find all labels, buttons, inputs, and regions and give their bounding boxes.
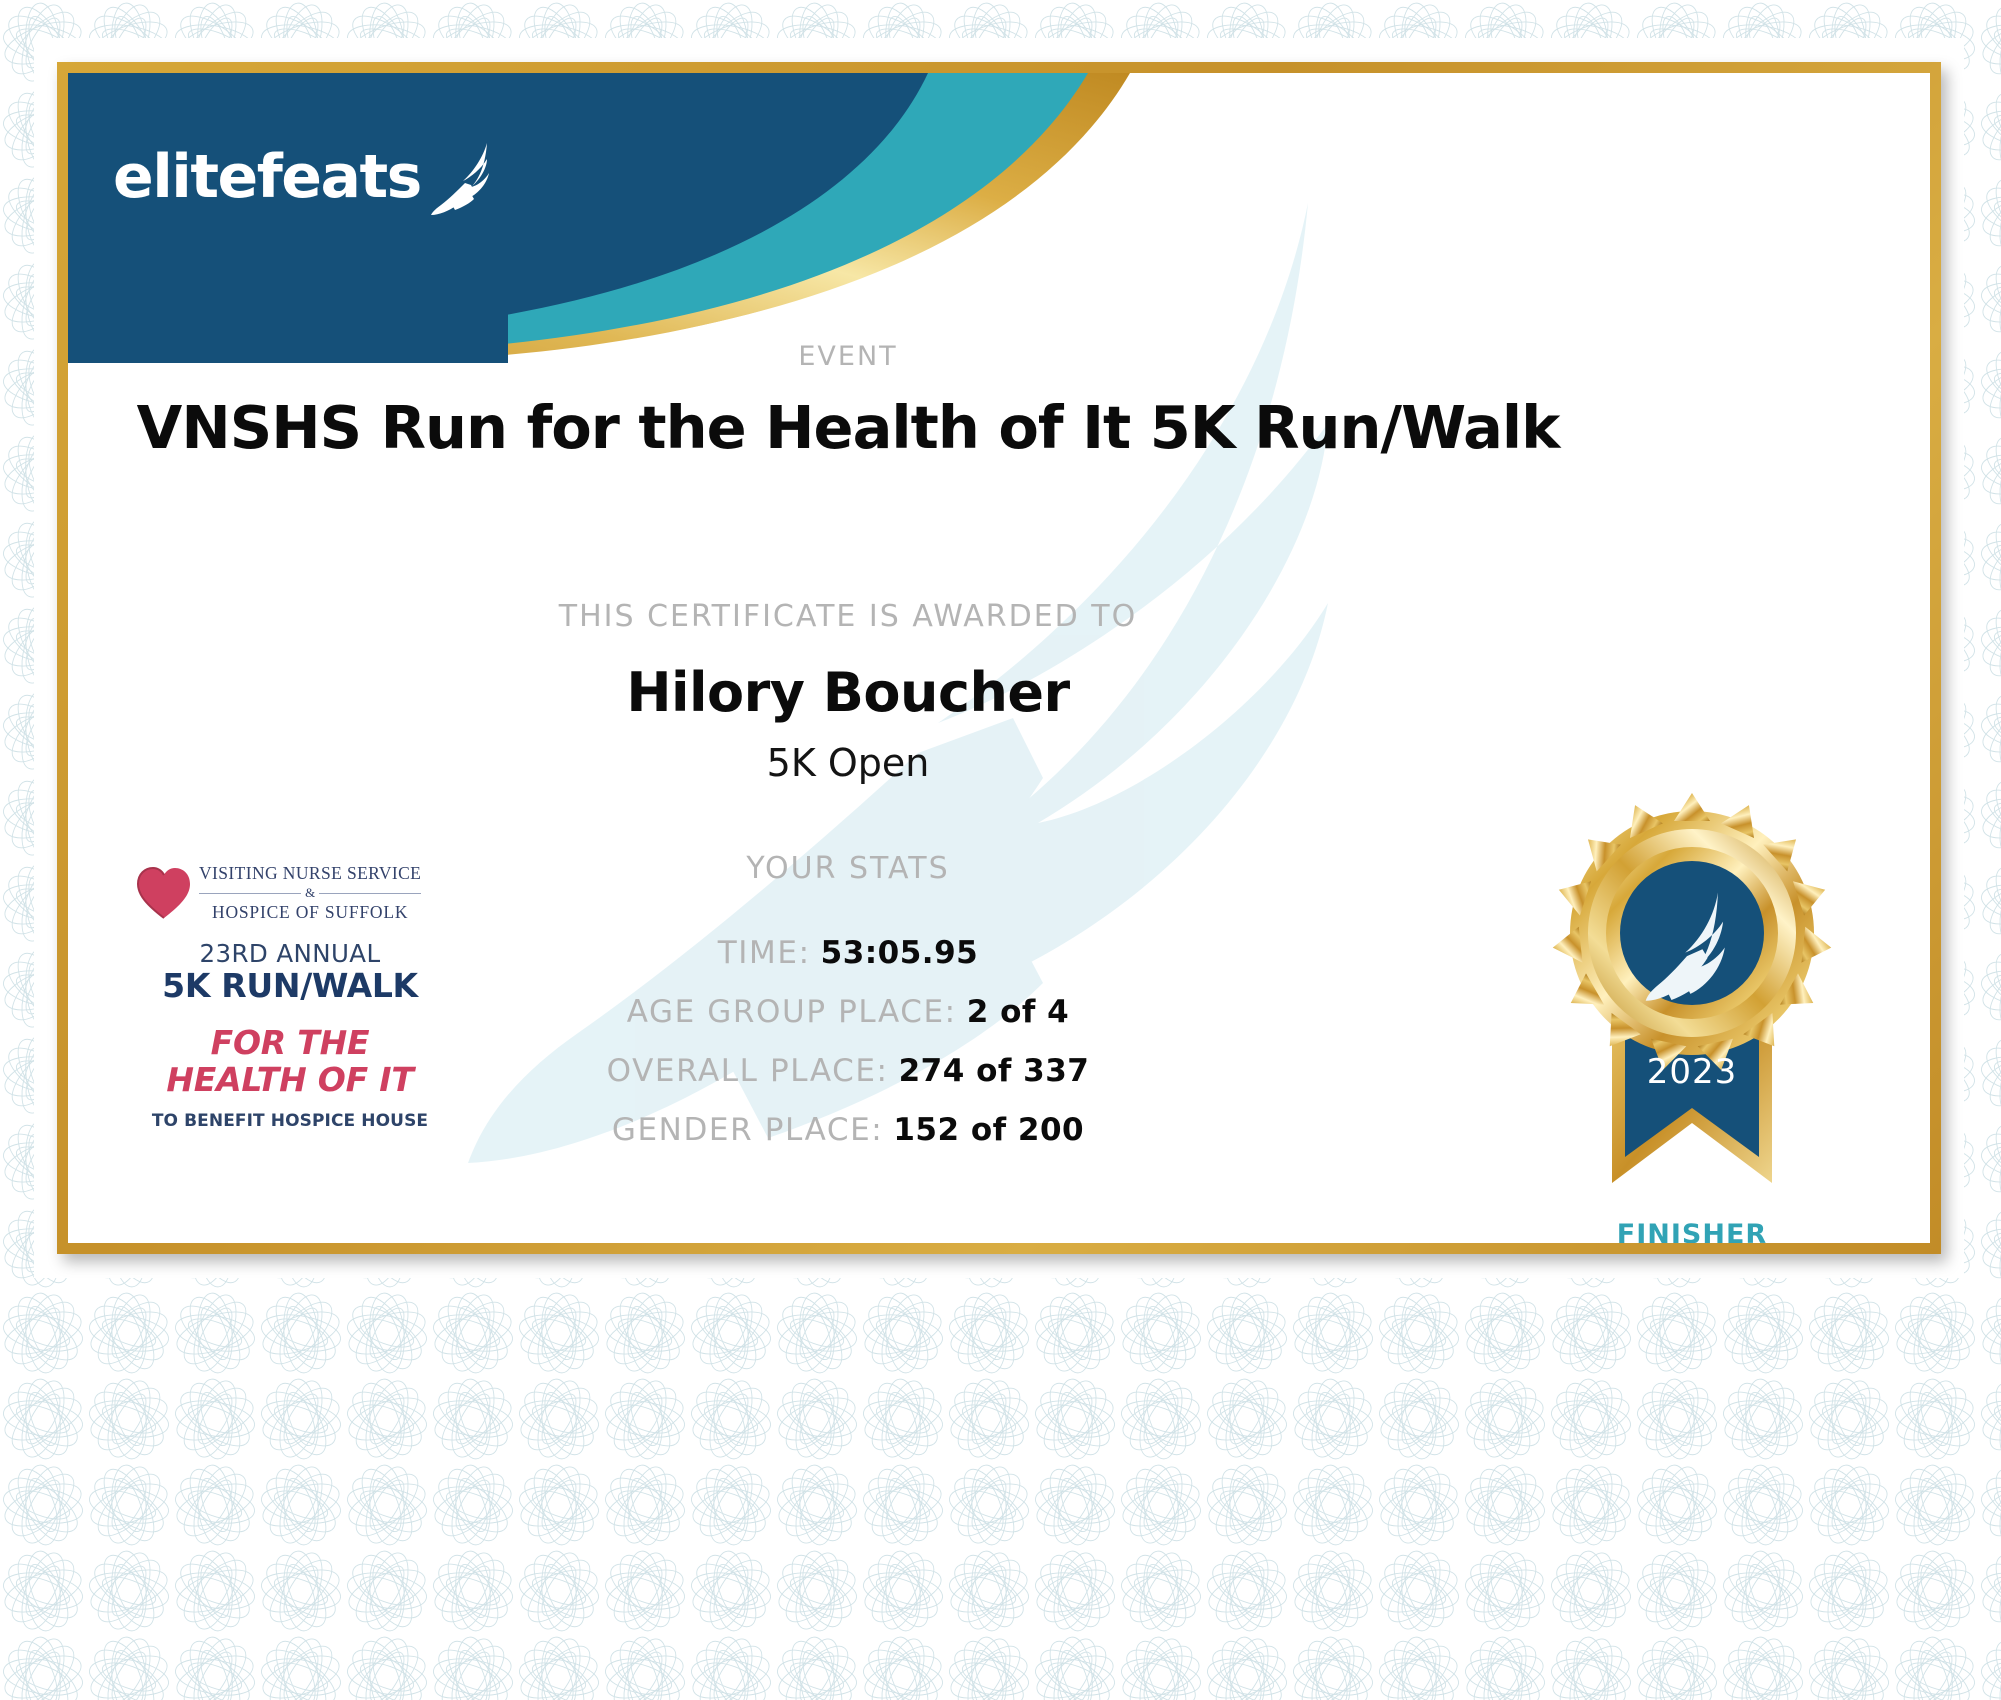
rule-right (319, 893, 421, 894)
sponsor-benefit: TO BENEFIT HOSPICE HOUSE (135, 1111, 445, 1131)
sponsor-tagline-line-1: FOR THE (135, 1025, 445, 1062)
medal-caption: FINISHER CERTIFICATE (1542, 1220, 1842, 1243)
event-label: EVENT (68, 341, 1628, 372)
awarded-to-label: THIS CERTIFICATE IS AWARDED TO (68, 599, 1628, 634)
recipient-name: Hilory Boucher (68, 661, 1628, 724)
vns-line-1: VISITING NURSE SERVICE (199, 863, 421, 884)
sponsor-logo-block: VISITING NURSE SERVICE & HOSPICE OF SUFF… (135, 863, 445, 1131)
vns-line-2: HOSPICE OF SUFFOLK (199, 902, 421, 923)
recipient-division: 5K Open (68, 741, 1628, 785)
stat-value: 53:05.95 (821, 935, 979, 971)
brand-wordmark: elitefeats (113, 147, 421, 207)
award-rosette-icon: 2023 (1542, 783, 1842, 1213)
vns-ampersand-rule: & (199, 885, 421, 901)
event-title: VNSHS Run for the Health of It 5K Run/Wa… (68, 393, 1628, 462)
finisher-medal: 2023 FINISHER CERTIFICATE (1542, 783, 1842, 1243)
stat-value: 274 of 337 (899, 1053, 1090, 1089)
stat-key: GENDER PLACE: (612, 1112, 883, 1148)
vns-logo: VISITING NURSE SERVICE & HOSPICE OF SUFF… (135, 863, 445, 923)
certificate-card: elitefeats EVENT (68, 73, 1930, 1243)
stat-value: 2 of 4 (967, 994, 1070, 1030)
vns-wordmark: VISITING NURSE SERVICE & HOSPICE OF SUFF… (199, 863, 421, 923)
rule-left (199, 893, 301, 894)
sponsor-runwalk: 5K RUN/WALK (135, 966, 445, 1005)
stat-key: AGE GROUP PLACE: (627, 994, 957, 1030)
heart-icon (135, 863, 193, 923)
certificate-frame: elitefeats EVENT (57, 62, 1941, 1254)
vns-ampersand: & (305, 885, 315, 901)
sponsor-tagline-line-2: HEALTH OF IT (135, 1062, 445, 1099)
certificate-page: elitefeats EVENT (0, 0, 2001, 1700)
brand-logo: elitefeats (113, 135, 499, 219)
sponsor-tagline: FOR THE HEALTH OF IT (135, 1025, 445, 1099)
stat-key: OVERALL PLACE: (607, 1053, 889, 1089)
winged-foot-icon (427, 141, 499, 219)
medal-caption-line-1: FINISHER (1542, 1220, 1842, 1243)
sponsor-annual: 23RD ANNUAL (135, 939, 445, 968)
medal-year: 2023 (1647, 1052, 1738, 1092)
certificate-content: EVENT VNSHS Run for the Health of It 5K … (68, 73, 1930, 1243)
stat-value: 152 of 200 (893, 1112, 1084, 1148)
stat-key: TIME: (718, 935, 811, 971)
